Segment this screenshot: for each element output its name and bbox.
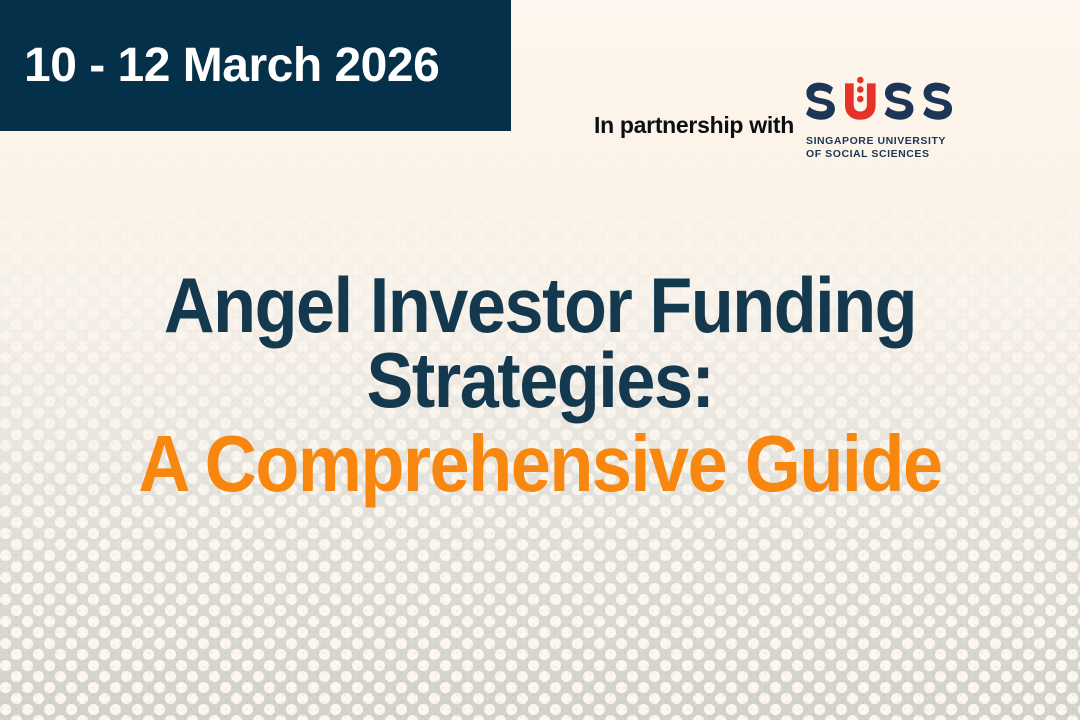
partnership-row: In partnership with SINGAPORE UNIVERSITY… <box>594 72 1034 164</box>
event-poster: 10 - 12 March 2026 In partnership with S <box>0 0 1080 720</box>
suss-tagline: SINGAPORE UNIVERSITY OF SOCIAL SCIENCES <box>806 135 989 161</box>
suss-wordmark-icon <box>806 75 989 131</box>
poster-headline: Angel Investor Funding Strategies: A Com… <box>0 268 1080 503</box>
headline-line-2: Strategies: <box>54 343 1026 418</box>
headline-line-1: Angel Investor Funding <box>54 268 1026 343</box>
suss-tagline-line-2: OF SOCIAL SCIENCES <box>806 148 989 161</box>
suss-tagline-line-1: SINGAPORE UNIVERSITY <box>806 135 989 148</box>
date-banner: 10 - 12 March 2026 <box>0 0 511 131</box>
suss-logo: SINGAPORE UNIVERSITY OF SOCIAL SCIENCES <box>806 75 989 161</box>
partnership-label: In partnership with <box>594 112 794 139</box>
event-date-text: 10 - 12 March 2026 <box>24 38 439 93</box>
headline-line-3-subtitle: A Comprehensive Guide <box>54 426 1026 503</box>
